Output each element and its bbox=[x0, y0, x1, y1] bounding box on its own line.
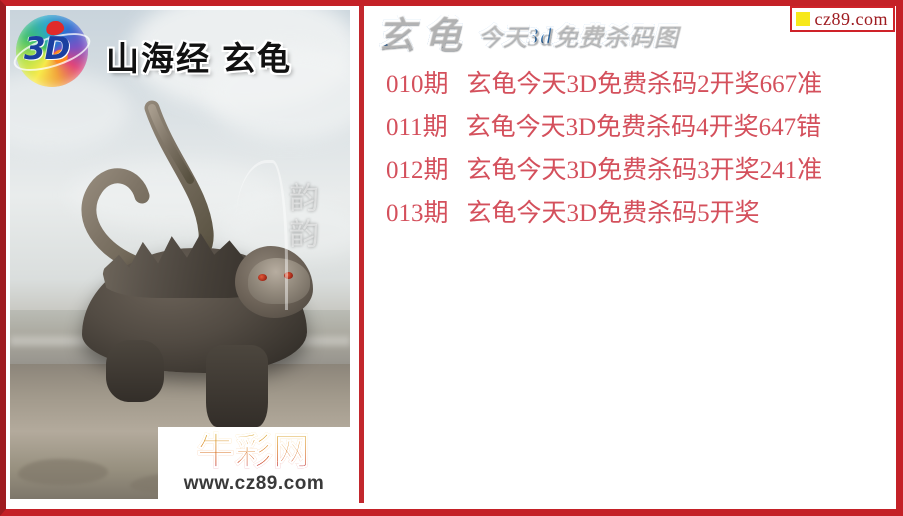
site-badge[interactable]: cz89.com bbox=[790, 6, 895, 32]
brand-name: 牛彩网 bbox=[158, 431, 350, 473]
list-item[interactable]: 012期 玄龟今天3D免费杀码3开奖241准 bbox=[364, 150, 896, 193]
logo-3d-text: 3D bbox=[24, 31, 69, 67]
poster-image: 3D 山海经 玄龟 韵韵 牛彩网 www.cz89.com bbox=[10, 10, 350, 499]
brand-watermark: 牛彩网 www.cz89.com bbox=[158, 427, 350, 499]
issue-text: 玄龟今天3D免费杀码2开奖667准 bbox=[449, 64, 823, 100]
brand-url: www.cz89.com bbox=[158, 473, 350, 495]
list-item[interactable]: 011期 玄龟今天3D免费杀码4开奖647错 bbox=[364, 107, 896, 150]
issue-text: 玄龟今天3D免费杀码5开奖 bbox=[449, 193, 760, 229]
poster-header: 3D 山海经 玄龟 bbox=[10, 10, 350, 82]
poster-panel: 3D 山海经 玄龟 韵韵 牛彩网 www.cz89.com bbox=[6, 6, 353, 503]
headline-graphic: 玄龟 今天3d免费杀码图 bbox=[376, 15, 678, 55]
page-frame: 3D 山海经 玄龟 韵韵 牛彩网 www.cz89.com cz89.com 玄… bbox=[0, 0, 903, 516]
headline-sub: 今天3d免费杀码图 bbox=[477, 22, 678, 55]
content-panel: cz89.com 玄龟 今天3d免费杀码图 010期 玄龟今天3D免费杀码2开奖… bbox=[364, 6, 896, 509]
lottery-3d-logo-icon: 3D bbox=[16, 15, 88, 87]
list-item[interactable]: 010期 玄龟今天3D免费杀码2开奖667准 bbox=[364, 64, 896, 107]
issue-number: 013期 bbox=[386, 193, 449, 229]
poster-title: 山海经 玄龟 bbox=[106, 32, 292, 80]
issue-text: 玄龟今天3D免费杀码4开奖647错 bbox=[448, 107, 822, 143]
calligraphy-watermark: 韵韵 bbox=[278, 182, 322, 254]
list-item[interactable]: 013期 玄龟今天3D免费杀码5开奖 bbox=[364, 193, 896, 236]
issue-number: 012期 bbox=[386, 150, 449, 186]
turtle-leg bbox=[106, 340, 164, 402]
issue-number: 010期 bbox=[386, 64, 449, 100]
badge-swatch-icon bbox=[796, 12, 810, 26]
issue-text: 玄龟今天3D免费杀码3开奖241准 bbox=[449, 150, 823, 186]
badge-label: cz89.com bbox=[815, 10, 888, 28]
prediction-list: 010期 玄龟今天3D免费杀码2开奖667准 011期 玄龟今天3D免费杀码4开… bbox=[364, 64, 896, 236]
turtle-leg bbox=[206, 345, 268, 427]
headline-main: 玄龟 bbox=[376, 15, 470, 55]
issue-number: 011期 bbox=[386, 107, 448, 143]
